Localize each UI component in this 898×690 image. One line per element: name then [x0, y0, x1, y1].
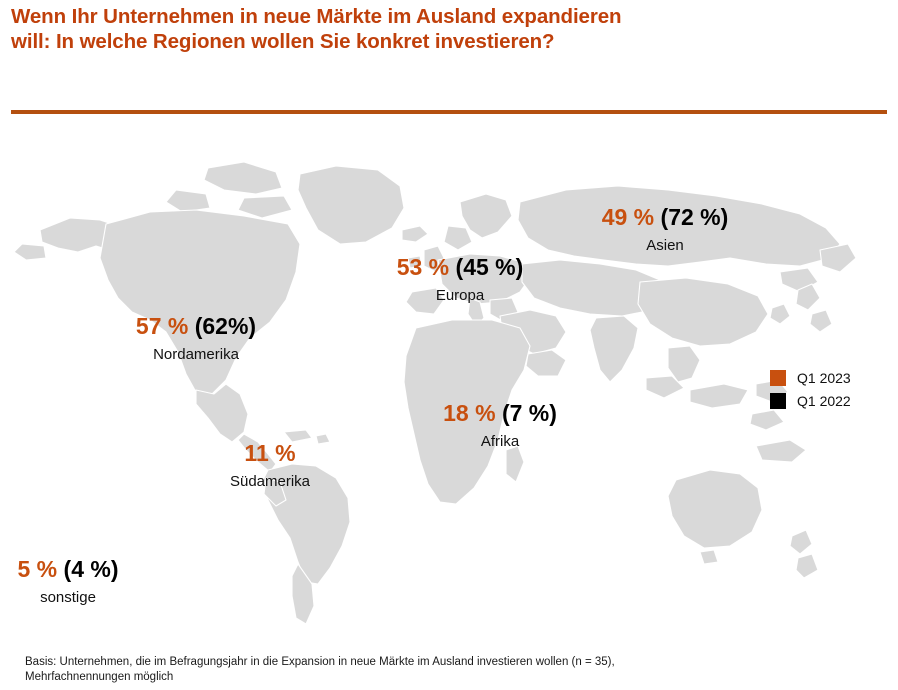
- legend-swatch-icon-q1-2022: [770, 393, 786, 409]
- value-previous-nordamerika: (62%): [195, 313, 256, 339]
- region-name-afrika: Afrika: [390, 432, 610, 452]
- region-name-europa: Europa: [340, 286, 580, 306]
- legend-swatch-icon-q1-2023: [770, 370, 786, 386]
- region-label-nordamerika: 57 % (62%) Nordamerika: [76, 313, 316, 365]
- region-values-nordamerika: 57 % (62%): [76, 313, 316, 339]
- value-current-sonstige: 5 %: [18, 556, 58, 582]
- chart-legend: Q1 2023 Q1 2022: [770, 366, 851, 412]
- value-current-afrika: 18 %: [443, 400, 495, 426]
- world-map-chart: 57 % (62%) Nordamerika 11 % Südamerika 5…: [0, 132, 898, 632]
- legend-label-q1-2023: Q1 2023: [797, 370, 851, 386]
- legend-label-q1-2022: Q1 2022: [797, 393, 851, 409]
- region-values-afrika: 18 % (7 %): [390, 400, 610, 426]
- region-values-europa: 53 % (45 %): [340, 254, 580, 280]
- title-divider: [11, 110, 887, 114]
- region-values-sonstige: 5 % (4 %): [0, 556, 188, 582]
- region-label-suedamerika: 11 % Südamerika: [165, 440, 375, 492]
- region-label-asien: 49 % (72 %) Asien: [545, 204, 785, 256]
- legend-item-q1-2023: Q1 2023: [770, 366, 851, 389]
- value-previous-sonstige: (4 %): [64, 556, 119, 582]
- value-previous-afrika: (7 %): [502, 400, 557, 426]
- value-current-suedamerika: 11 %: [244, 440, 295, 466]
- value-previous-europa: (45 %): [456, 254, 524, 280]
- value-current-nordamerika: 57 %: [136, 313, 188, 339]
- value-previous-asien: (72 %): [661, 204, 729, 230]
- region-name-sonstige: sonstige: [0, 588, 188, 608]
- value-current-asien: 49 %: [602, 204, 654, 230]
- region-label-sonstige: 5 % (4 %) sonstige: [0, 556, 188, 608]
- value-current-europa: 53 %: [397, 254, 449, 280]
- chart-footnote: Basis: Unternehmen, die im Befragungsjah…: [25, 655, 785, 685]
- region-name-asien: Asien: [545, 236, 785, 256]
- region-name-suedamerika: Südamerika: [165, 472, 375, 492]
- region-label-afrika: 18 % (7 %) Afrika: [390, 400, 610, 452]
- region-name-nordamerika: Nordamerika: [76, 345, 316, 365]
- region-label-europa: 53 % (45 %) Europa: [340, 254, 580, 306]
- page-title: Wenn Ihr Unternehmen in neue Märkte im A…: [11, 4, 651, 54]
- region-values-suedamerika: 11 %: [165, 440, 375, 466]
- legend-item-q1-2022: Q1 2022: [770, 389, 851, 412]
- region-values-asien: 49 % (72 %): [545, 204, 785, 230]
